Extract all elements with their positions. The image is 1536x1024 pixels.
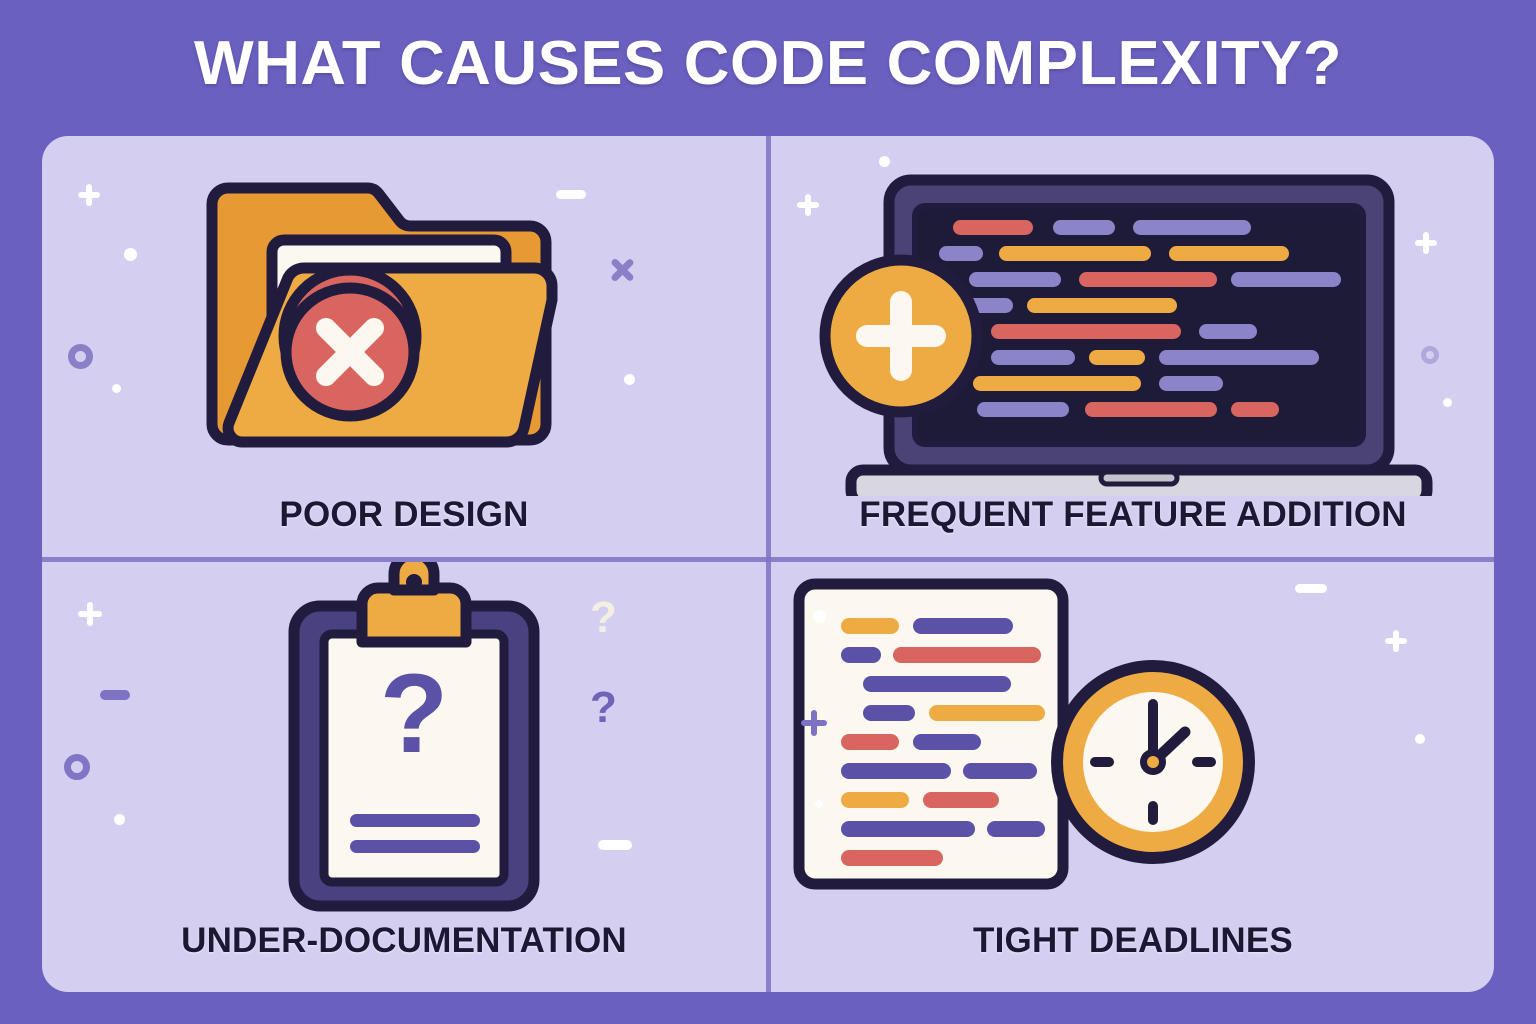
code-line-segment <box>939 246 983 261</box>
code-line-segment <box>913 618 1013 634</box>
code-line-segment <box>969 272 1061 287</box>
code-line-segment <box>863 705 915 721</box>
code-line-segment <box>841 850 943 866</box>
quadrant-poor-design[interactable]: POOR DESIGN <box>42 136 766 557</box>
code-line-segment <box>863 676 1011 692</box>
question-mark: ? <box>380 651 448 776</box>
code-line-segment <box>1085 402 1217 417</box>
code-line-segment <box>1079 272 1217 287</box>
quadrant-card: POOR DESIGN <box>42 136 1494 992</box>
code-line-segment <box>841 734 899 750</box>
code-line-segment <box>913 734 981 750</box>
code-line-segment <box>923 792 999 808</box>
clock-face <box>1057 666 1249 858</box>
quadrant-frequent-feature-addition[interactable]: FREQUENT FEATURE ADDITION <box>771 136 1494 557</box>
code-line-segment <box>963 763 1037 779</box>
clipboard-question-icon: ? <box>42 562 766 922</box>
code-line-segment <box>991 324 1181 339</box>
code-line-segment <box>1159 376 1223 391</box>
quadrant-label-under-documentation: UNDER-DOCUMENTATION <box>42 921 766 961</box>
laptop-plus-icon <box>771 136 1494 496</box>
code-line-segment <box>977 402 1069 417</box>
page-title: WHAT CAUSES CODE COMPLEXITY? <box>0 28 1536 99</box>
quadrant-tight-deadlines[interactable]: TIGHT DEADLINES <box>771 562 1494 983</box>
infographic-root: WHAT CAUSES CODE COMPLEXITY? <box>0 0 1536 1024</box>
code-line-segment <box>893 647 1041 663</box>
quadrant-label-frequent-feature-addition: FREQUENT FEATURE ADDITION <box>771 495 1494 535</box>
code-line-segment <box>1231 402 1279 417</box>
code-line-segment <box>987 821 1045 837</box>
code-line-segment <box>841 821 975 837</box>
code-line-segment <box>1169 246 1289 261</box>
code-line-segment <box>1027 298 1177 313</box>
code-line-segment <box>999 246 1151 261</box>
code-line-segment <box>991 350 1075 365</box>
folder-error-icon <box>42 136 766 496</box>
code-line-segment <box>1089 350 1145 365</box>
quadrant-under-documentation[interactable]: ? ?? UNDER-DOCUMENTATION <box>42 562 766 983</box>
code-line-segment <box>973 376 1141 391</box>
code-line-segment <box>841 792 909 808</box>
code-line-segment <box>953 220 1033 235</box>
code-line-segment <box>1053 220 1115 235</box>
code-line-segment <box>1159 350 1319 365</box>
code-line-segment <box>841 763 951 779</box>
code-line-segment <box>841 647 881 663</box>
plus-badge-circle <box>825 260 977 412</box>
code-line-segment <box>1199 324 1257 339</box>
quadrant-label-tight-deadlines: TIGHT DEADLINES <box>771 921 1494 961</box>
quadrant-label-poor-design: POOR DESIGN <box>42 495 766 535</box>
code-line-segment <box>1133 220 1251 235</box>
code-line-segment <box>1231 272 1341 287</box>
code-line-segment <box>841 618 899 634</box>
code-line-segment <box>929 705 1045 721</box>
document-clock-icon <box>771 562 1494 922</box>
